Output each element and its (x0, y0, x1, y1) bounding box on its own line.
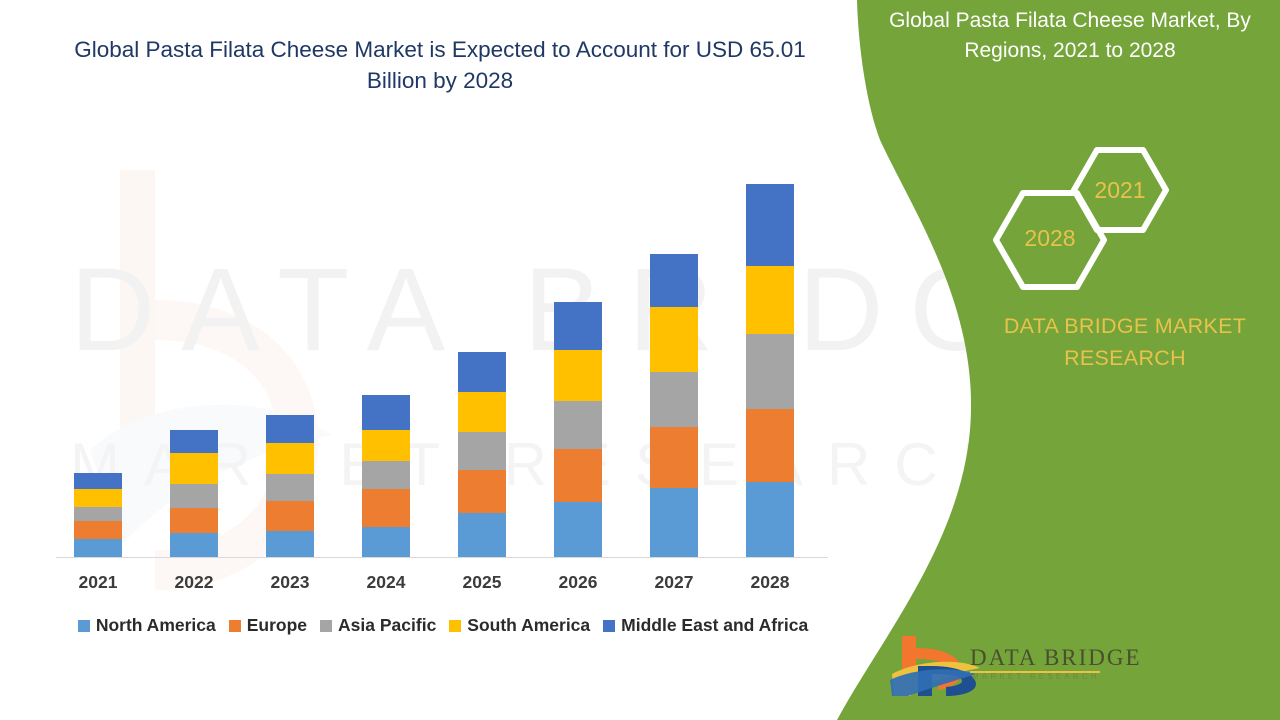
brand-name: DATA BRIDGE MARKET RESEARCH (975, 310, 1275, 375)
bar-segment-south-america (266, 443, 314, 474)
bar-segment-europe (746, 409, 794, 482)
x-axis-label-2025: 2025 (447, 572, 517, 593)
bar-segment-south-america (554, 350, 602, 400)
bar-segment-europe (266, 501, 314, 531)
bar-segment-europe (362, 489, 410, 527)
logo-wordmark: DATA BRIDGE (970, 645, 1142, 671)
bar-segment-middle-east-and-africa (362, 395, 410, 429)
legend-swatch-icon (603, 620, 615, 632)
bar-segment-north-america (266, 531, 314, 557)
bar-segment-asia-pacific (362, 461, 410, 490)
legend-swatch-icon (320, 620, 332, 632)
legend-label: Asia Pacific (338, 615, 436, 636)
legend-item-middle-east-and-africa[interactable]: Middle East and Africa (603, 615, 808, 636)
brand-line-2: RESEARCH (1064, 346, 1186, 370)
infographic-root: DATA BRIDGE MARKET RESEARCH Global Pasta… (0, 0, 1280, 720)
bar-chart-plot-area (0, 0, 840, 720)
bar-2026 (554, 302, 602, 557)
legend-swatch-icon (78, 620, 90, 632)
bar-segment-asia-pacific (170, 484, 218, 508)
x-axis-label-2026: 2026 (543, 572, 613, 593)
legend-item-north-america[interactable]: North America (78, 615, 216, 636)
bar-segment-asia-pacific (746, 334, 794, 409)
hex-label-2028: 2028 (1010, 225, 1090, 252)
bar-segment-south-america (362, 430, 410, 461)
bar-2025 (458, 352, 506, 557)
bar-segment-middle-east-and-africa (554, 302, 602, 350)
bar-segment-middle-east-and-africa (746, 184, 794, 265)
x-axis-label-2021: 2021 (63, 572, 133, 593)
bar-segment-middle-east-and-africa (74, 473, 122, 489)
bar-segment-south-america (458, 392, 506, 432)
hexagon-badges: 2021 2028 (985, 145, 1185, 290)
bar-segment-north-america (554, 502, 602, 557)
bar-segment-asia-pacific (650, 372, 698, 427)
panel-title: Global Pasta Filata Cheese Market, By Re… (860, 6, 1280, 66)
x-axis-label-2023: 2023 (255, 572, 325, 593)
legend-label: Europe (247, 615, 307, 636)
x-axis-label-2027: 2027 (639, 572, 709, 593)
bar-segment-south-america (746, 266, 794, 335)
bar-segment-south-america (170, 453, 218, 484)
bar-segment-north-america (650, 488, 698, 557)
bar-segment-europe (650, 427, 698, 488)
legend-label: South America (467, 615, 590, 636)
x-axis-label-2028: 2028 (735, 572, 805, 593)
bar-2022 (170, 430, 218, 557)
bar-segment-europe (74, 521, 122, 538)
bar-segment-asia-pacific (458, 432, 506, 470)
brand-line-1: DATA BRIDGE MARKET (1004, 314, 1246, 338)
bar-segment-north-america (170, 533, 218, 557)
bar-segment-north-america (74, 539, 122, 557)
x-axis-label-2024: 2024 (351, 572, 421, 593)
bar-segment-asia-pacific (554, 401, 602, 449)
bar-2023 (266, 415, 314, 557)
bar-2024 (362, 395, 410, 557)
bar-segment-south-america (650, 307, 698, 372)
hex-label-2021: 2021 (1080, 177, 1160, 204)
bar-segment-asia-pacific (266, 474, 314, 500)
bar-segment-europe (458, 470, 506, 514)
bar-segment-south-america (74, 489, 122, 506)
bar-2027 (650, 254, 698, 557)
x-axis-label-2022: 2022 (159, 572, 229, 593)
bar-segment-asia-pacific (74, 507, 122, 522)
legend-item-south-america[interactable]: South America (449, 615, 590, 636)
bar-2021 (74, 473, 122, 557)
bar-2028 (746, 184, 794, 557)
chart-legend: North AmericaEuropeAsia PacificSouth Ame… (48, 615, 838, 636)
bar-segment-north-america (362, 527, 410, 557)
hexagon-outline-icon (985, 145, 1185, 290)
legend-label: North America (96, 615, 216, 636)
bar-segment-europe (170, 508, 218, 533)
bar-segment-middle-east-and-africa (650, 254, 698, 307)
legend-item-europe[interactable]: Europe (229, 615, 307, 636)
legend-item-asia-pacific[interactable]: Asia Pacific (320, 615, 436, 636)
legend-swatch-icon (229, 620, 241, 632)
bar-segment-middle-east-and-africa (266, 415, 314, 444)
bar-segment-north-america (746, 482, 794, 557)
bar-segment-north-america (458, 513, 506, 557)
x-axis-labels: 20212022202320242025202620272028 (0, 572, 840, 602)
bar-segment-europe (554, 449, 602, 502)
bar-segment-middle-east-and-africa (170, 430, 218, 453)
bar-segment-middle-east-and-africa (458, 352, 506, 392)
legend-label: Middle East and Africa (621, 615, 808, 636)
legend-swatch-icon (449, 620, 461, 632)
logo-tagline: MARKET RESEARCH (972, 672, 1100, 681)
